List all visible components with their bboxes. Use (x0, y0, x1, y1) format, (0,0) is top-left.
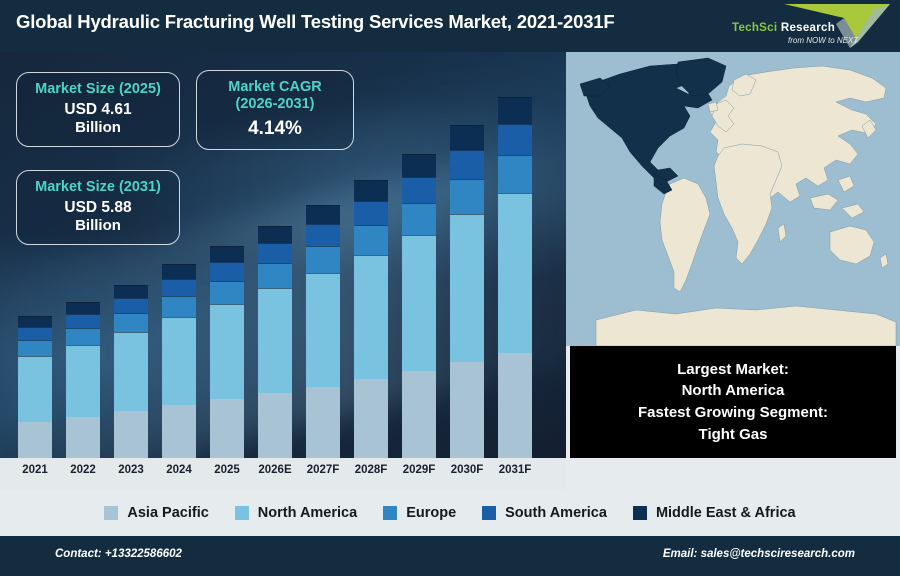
legend-label: Middle East & Africa (656, 505, 796, 521)
logo-wordmark: TechSci Research (732, 22, 835, 34)
bar-segment-south-america (450, 150, 484, 179)
bar-segment-north-america (258, 288, 292, 393)
bar-segment-south-america (258, 243, 292, 263)
bar-segment-north-america (306, 273, 340, 387)
stat-card-value: USD 4.61 (64, 100, 131, 119)
bar-segment-europe (66, 328, 100, 345)
bar-segment-asia-pacific (354, 379, 388, 458)
bar-2029F (402, 154, 436, 458)
x-axis-label-2030F: 2030F (440, 464, 494, 476)
bar-segment-middle-east-africa (498, 97, 532, 124)
bar-segment-middle-east-africa (402, 154, 436, 177)
legend-label: Asia Pacific (127, 505, 208, 521)
key-findings-box: Largest Market: North America Fastest Gr… (570, 346, 896, 458)
bar-segment-europe (114, 313, 148, 332)
bar-segment-south-america (114, 298, 148, 313)
bar-segment-middle-east-africa (210, 246, 244, 262)
x-axis-label-2021: 2021 (8, 464, 62, 476)
stat-card-heading: Market Size (2031) (35, 179, 161, 195)
bar-segment-middle-east-africa (306, 205, 340, 224)
bar-segment-europe (402, 203, 436, 235)
legend-label: Europe (406, 505, 456, 521)
legend-swatch-icon (104, 506, 118, 520)
bar-segment-south-america (498, 124, 532, 155)
x-axis-label-2031F: 2031F (488, 464, 542, 476)
stat-card-value: 4.14% (248, 117, 302, 141)
footer-bar: Contact: +13322586602 Email: sales@techs… (0, 536, 900, 576)
legend-swatch-icon (383, 506, 397, 520)
legend-item-south-america[interactable]: South America (482, 505, 607, 521)
bar-2028F (354, 180, 388, 458)
bar-segment-south-america (402, 177, 436, 203)
stat-card-unit: Billion (75, 217, 121, 236)
bar-segment-asia-pacific (114, 411, 148, 458)
bar-2031F (498, 97, 532, 458)
bar-segment-south-america (162, 279, 196, 296)
bar-segment-asia-pacific (210, 399, 244, 458)
bar-segment-asia-pacific (162, 405, 196, 458)
bar-2023 (114, 285, 148, 458)
stat-card-heading: Market CAGR (228, 79, 321, 95)
bar-segment-europe (498, 155, 532, 193)
page-title: Global Hydraulic Fracturing Well Testing… (16, 11, 615, 33)
bar-segment-middle-east-africa (66, 302, 100, 314)
bar-segment-south-america (66, 314, 100, 328)
x-axis-label-2025: 2025 (200, 464, 254, 476)
fastest-segment-value: Tight Gas (699, 424, 768, 446)
world-map-svg (566, 52, 900, 346)
stat-card-subheading: (2026-2031) (236, 96, 315, 112)
fastest-segment-label: Fastest Growing Segment: (638, 402, 828, 424)
bar-segment-asia-pacific (258, 393, 292, 458)
bar-segment-middle-east-africa (18, 316, 52, 327)
bar-segment-north-america (66, 345, 100, 417)
bar-2022 (66, 302, 100, 458)
stat-card-market-size-2031: Market Size (2031) USD 5.88 Billion (16, 170, 180, 245)
bar-segment-south-america (210, 262, 244, 281)
x-axis-label-2029F: 2029F (392, 464, 446, 476)
footer-contact: Contact: +13322586602 (55, 548, 182, 560)
stat-card-value: USD 5.88 (64, 198, 131, 217)
bar-segment-europe (18, 340, 52, 356)
legend-item-middle-east-africa[interactable]: Middle East & Africa (633, 505, 796, 521)
x-axis-label-2026E: 2026E (248, 464, 302, 476)
bar-segment-middle-east-africa (450, 125, 484, 150)
legend-item-north-america[interactable]: North America (235, 505, 357, 521)
bar-segment-middle-east-africa (114, 285, 148, 298)
chart-x-axis: 202120222023202420252026E2027F2028F2029F… (0, 458, 566, 490)
largest-market-label: Largest Market: (677, 359, 789, 381)
bar-segment-middle-east-africa (258, 226, 292, 243)
map-british-isles (708, 102, 718, 112)
stat-card-market-size-2025: Market Size (2025) USD 4.61 Billion (16, 72, 180, 147)
bar-2021 (18, 316, 52, 458)
bar-segment-south-america (18, 327, 52, 340)
bar-segment-north-america (402, 235, 436, 371)
legend-label: North America (258, 505, 357, 521)
footer-email: Email: sales@techsciresearch.com (663, 548, 855, 560)
bar-2025 (210, 246, 244, 458)
bar-segment-europe (354, 225, 388, 255)
header-bar: Global Hydraulic Fracturing Well Testing… (0, 0, 900, 52)
bar-segment-europe (258, 263, 292, 288)
bar-segment-north-america (498, 193, 532, 353)
bar-segment-europe (306, 246, 340, 273)
legend-item-europe[interactable]: Europe (383, 505, 456, 521)
bar-segment-middle-east-africa (354, 180, 388, 201)
bar-segment-middle-east-africa (162, 264, 196, 279)
legend-swatch-icon (633, 506, 647, 520)
x-axis-label-2024: 2024 (152, 464, 206, 476)
logo-tagline: from NOW to NEXT (788, 36, 858, 45)
bar-segment-europe (450, 179, 484, 214)
legend-swatch-icon (482, 506, 496, 520)
bar-segment-north-america (114, 332, 148, 411)
bar-segment-asia-pacific (498, 353, 532, 458)
x-axis-label-2023: 2023 (104, 464, 158, 476)
bar-segment-asia-pacific (66, 417, 100, 458)
bar-segment-north-america (450, 214, 484, 362)
map-antarctica (596, 306, 896, 346)
infographic-root: Global Hydraulic Fracturing Well Testing… (0, 0, 900, 576)
x-axis-label-2028F: 2028F (344, 464, 398, 476)
bar-2024 (162, 264, 196, 458)
bar-segment-europe (210, 281, 244, 304)
world-map (566, 52, 900, 346)
bar-2030F (450, 125, 484, 458)
bar-segment-asia-pacific (18, 422, 52, 458)
stat-card-unit: Billion (75, 119, 121, 138)
chart-legend: Asia PacificNorth AmericaEuropeSouth Ame… (0, 490, 900, 536)
legend-item-asia-pacific[interactable]: Asia Pacific (104, 505, 208, 521)
x-axis-label-2022: 2022 (56, 464, 110, 476)
x-axis-label-2027F: 2027F (296, 464, 350, 476)
logo-research-text: Research (777, 22, 835, 34)
bar-segment-asia-pacific (402, 371, 436, 458)
bar-segment-europe (162, 296, 196, 317)
bar-2027F (306, 205, 340, 458)
stat-card-heading: Market Size (2025) (35, 81, 161, 97)
logo-tech-text: TechSci (732, 22, 777, 34)
bar-2026E (258, 226, 292, 458)
bar-segment-north-america (162, 317, 196, 405)
stat-card-market-cagr: Market CAGR (2026-2031) 4.14% (196, 70, 354, 150)
bar-segment-north-america (354, 255, 388, 379)
bar-segment-south-america (306, 224, 340, 246)
bar-segment-asia-pacific (306, 387, 340, 458)
techsci-research-logo: TechSci Research from NOW to NEXT (724, 2, 892, 50)
largest-market-value: North America (682, 380, 785, 402)
legend-swatch-icon (235, 506, 249, 520)
bar-segment-south-america (354, 201, 388, 225)
legend-label: South America (505, 505, 607, 521)
bar-segment-north-america (18, 356, 52, 422)
bar-segment-asia-pacific (450, 362, 484, 458)
bar-segment-north-america (210, 304, 244, 399)
